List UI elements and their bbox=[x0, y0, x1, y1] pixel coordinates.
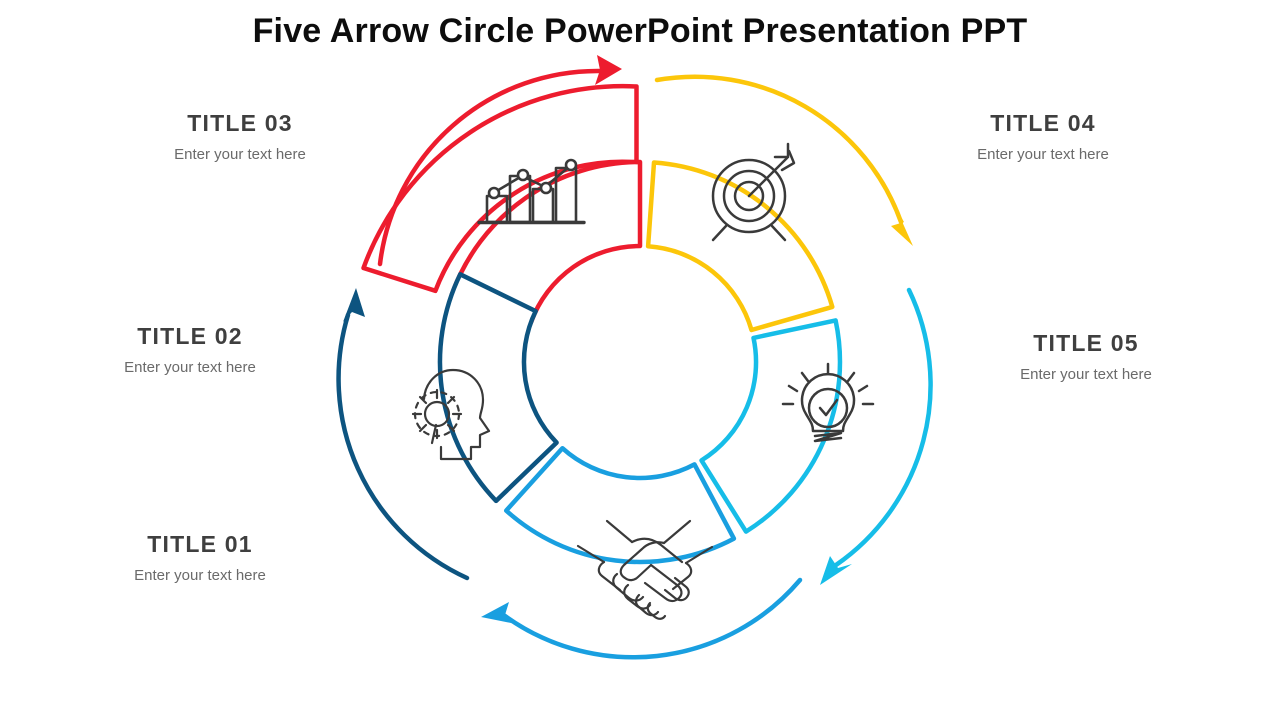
arrow-arc-cyan bbox=[836, 290, 931, 565]
arrowhead-blue bbox=[481, 602, 516, 624]
wedge-segment-01[interactable] bbox=[481, 580, 800, 657]
slide-canvas: Five Arrow Circle PowerPoint Presentatio… bbox=[0, 0, 1280, 720]
subtitle-03: Enter your text here bbox=[105, 146, 375, 163]
wedge-blue[interactable] bbox=[506, 448, 734, 562]
subtitle-05: Enter your text here bbox=[951, 366, 1221, 383]
title-03: TITLE 03 bbox=[105, 110, 375, 137]
title-05: TITLE 05 bbox=[951, 330, 1221, 357]
subtitle-02: Enter your text here bbox=[55, 359, 325, 376]
wedge-yellow[interactable] bbox=[648, 163, 832, 331]
label-block-02[interactable]: TITLE 02 Enter your text here bbox=[55, 323, 325, 376]
subtitle-01: Enter your text here bbox=[65, 567, 335, 584]
arrowhead-navy bbox=[343, 288, 365, 322]
label-block-05[interactable]: TITLE 05 Enter your text here bbox=[951, 330, 1221, 383]
subtitle-04: Enter your text here bbox=[908, 146, 1178, 163]
arrowhead-cyan bbox=[820, 556, 852, 585]
label-block-03[interactable]: TITLE 03 Enter your text here bbox=[105, 110, 375, 163]
title-02: TITLE 02 bbox=[55, 323, 325, 350]
title-01: TITLE 01 bbox=[65, 531, 335, 558]
title-04: TITLE 04 bbox=[908, 110, 1178, 137]
label-block-01[interactable]: TITLE 01 Enter your text here bbox=[65, 531, 335, 584]
label-block-04[interactable]: TITLE 04 Enter your text here bbox=[908, 110, 1178, 163]
arrowhead-yellow bbox=[891, 208, 913, 246]
arrow-arc-blue bbox=[501, 580, 800, 657]
